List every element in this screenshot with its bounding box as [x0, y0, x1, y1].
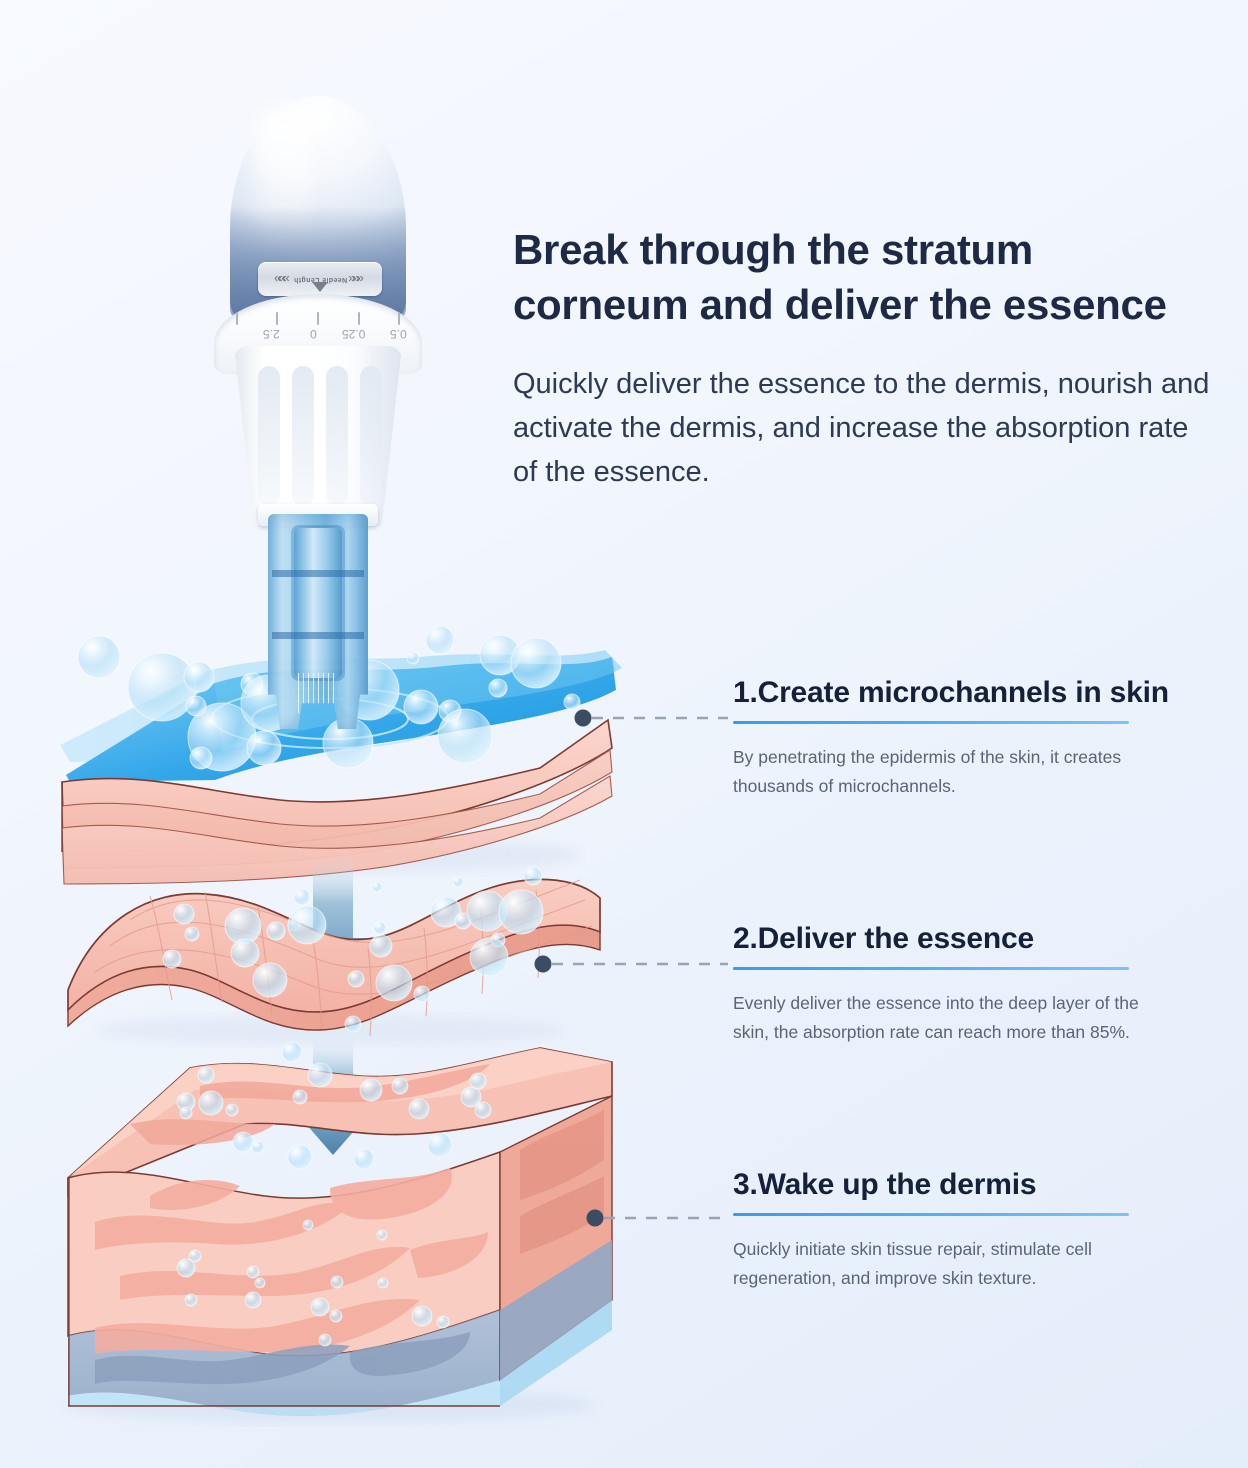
- dial-tick: [276, 312, 278, 325]
- needle-array-icon: [298, 673, 338, 713]
- step-title-3: 3.Wake up the dermis: [733, 1168, 1133, 1202]
- leader-dot-3: [587, 1210, 604, 1227]
- device-gloss-highlight: [256, 106, 310, 256]
- dial-tick: [317, 312, 319, 325]
- cartridge-band: [272, 570, 364, 577]
- microneedling-device: ««« Needle Length »»» 2.5 0 0.25 0.5: [196, 96, 436, 776]
- layer-3-skin-block: [65, 1048, 612, 1423]
- step-divider-1: [733, 721, 1129, 724]
- leader-dot-1: [575, 710, 592, 727]
- step-body-1: By penetrating the epidermis of the skin…: [733, 743, 1173, 801]
- dial-pointer-icon: [312, 282, 328, 292]
- step-body-3: Quickly initiate skin tissue repair, sti…: [733, 1235, 1173, 1293]
- step-item-2: 2.Deliver the essence Evenly deliver the…: [733, 922, 1133, 1047]
- dial-tick: [398, 312, 400, 325]
- step-divider-2: [733, 967, 1129, 970]
- device-grip-body: [234, 346, 402, 526]
- cartridge-band: [272, 632, 364, 639]
- grip-ridge: [360, 366, 382, 506]
- grip-ridge: [326, 366, 348, 506]
- needle-length-plate: ««« Needle Length »»»: [258, 262, 382, 296]
- leader-dot-2: [535, 956, 552, 973]
- chevron-right-icon: »»»: [277, 273, 290, 286]
- chevron-left-icon: «««: [351, 273, 364, 286]
- needle-cartridge: [268, 514, 368, 729]
- dial-label: 0.25: [342, 327, 365, 341]
- step-title-1: 1.Create microchannels in skin: [733, 676, 1133, 710]
- cartridge-core: [294, 528, 342, 678]
- step-item-1: 1.Create microchannels in skin By penetr…: [733, 676, 1133, 801]
- step-title-2: 2.Deliver the essence: [733, 922, 1133, 956]
- dial-label: 2.5: [263, 327, 280, 341]
- infographic-stage: ««« Needle Length »»» 2.5 0 0.25 0.5: [0, 0, 1248, 1468]
- dial-tick: [236, 312, 238, 325]
- dial-label: 0: [310, 327, 317, 341]
- step-item-3: 3.Wake up the dermis Quickly initiate sk…: [733, 1168, 1133, 1293]
- page-subtitle: Quickly deliver the essence to the dermi…: [513, 362, 1213, 494]
- grip-ridge: [292, 366, 314, 506]
- dial-tick: [358, 312, 360, 325]
- grip-ridge: [258, 366, 280, 506]
- step-body-2: Evenly deliver the essence into the deep…: [733, 989, 1173, 1047]
- page-title: Break through the stratum corneum and de…: [513, 222, 1213, 333]
- step-divider-3: [733, 1213, 1129, 1216]
- dial-label: 0.5: [390, 327, 407, 341]
